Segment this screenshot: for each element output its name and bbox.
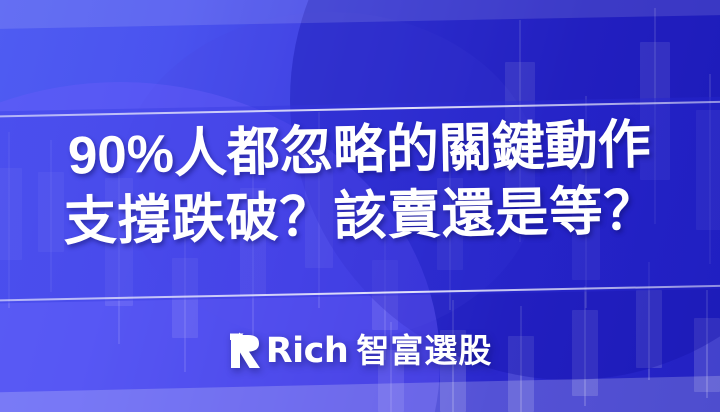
promo-banner: 90%人都忽略的關鍵動作 支撐跌破？該賣還是等？ Rich 智富選股 [0, 0, 720, 412]
brand-logo: Rich 智富選股 [0, 332, 720, 370]
logo-wordmark-chinese: 智富選股 [356, 332, 492, 370]
logo-wordmark-latin: Rich [266, 332, 349, 370]
headline: 90%人都忽略的關鍵動作 支撐跌破？該賣還是等？ [0, 111, 720, 257]
arrow-r-icon [228, 332, 262, 370]
headline-line-2: 支撐跌破？該賣還是等？ [0, 177, 720, 257]
